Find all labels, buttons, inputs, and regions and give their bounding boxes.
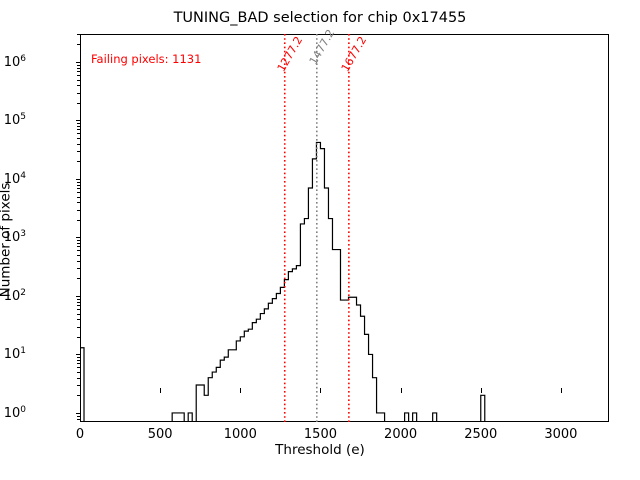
y-tick-minor [77,185,80,186]
y-tick-minor [77,210,80,211]
histogram-step [80,348,84,422]
x-tick-label: 2500 [464,427,497,442]
x-tick-major [561,388,562,393]
y-tick-minor [77,103,80,104]
y-tick-minor [77,68,80,69]
histogram-step [196,142,384,422]
y-tick-major [76,413,81,414]
y-tick-minor [77,357,80,358]
y-tick-minor [77,220,80,221]
y-tick-minor [77,182,80,183]
y-tick-minor [77,378,80,379]
y-tick-major [76,179,81,180]
y-tick-minor [77,327,80,328]
y-tick-minor [77,305,80,306]
y-tick-label: 104 [4,171,26,187]
x-tick-label: 500 [148,427,173,442]
y-tick-minor [77,144,80,145]
y-tick-minor [77,268,80,269]
x-tick-major [320,388,321,393]
y-tick-minor [77,129,80,130]
y-tick-minor [77,302,80,303]
x-tick-label: 2000 [384,427,417,442]
y-tick-minor [77,337,80,338]
failing-pixels-annotation: Failing pixels: 1131 [91,52,201,66]
x-tick-label: 1500 [304,427,337,442]
y-tick-minor [77,385,80,386]
histogram-step [413,413,417,422]
y-tick-minor [77,367,80,368]
histogram-step [188,413,192,422]
x-tick-label: 3000 [544,427,577,442]
x-tick-major [481,388,482,393]
x-tick-major [401,388,402,393]
y-tick-minor [77,360,80,361]
y-tick-minor [77,75,80,76]
y-tick-minor [77,278,80,279]
y-tick-label: 105 [4,112,26,128]
y-tick-major [76,354,81,355]
y-tick-label: 106 [4,54,26,70]
y-tick-minor [77,138,80,139]
y-tick-minor [77,309,80,310]
histogram-step [481,395,485,422]
y-tick-major [76,62,81,63]
plot-area: Failing pixels: 1131 1277.21477.21677.2 [80,34,609,422]
histogram-step [433,413,437,422]
y-tick-minor [77,34,80,35]
y-tick-minor [77,126,80,127]
y-tick-minor [77,71,80,72]
y-tick-minor [77,80,80,81]
y-tick-minor [77,151,80,152]
y-tick-minor [77,65,80,66]
y-tick-minor [77,133,80,134]
y-tick-minor [77,395,80,396]
x-axis-label: Threshold (e) [0,442,640,458]
y-tick-minor [77,243,80,244]
x-tick-label: 0 [76,427,84,442]
y-tick-minor [77,419,80,420]
y-tick-minor [77,93,80,94]
y-tick-minor [77,192,80,193]
y-tick-minor [77,197,80,198]
y-tick-major [76,296,81,297]
y-tick-minor [77,299,80,300]
y-tick-minor [77,319,80,320]
y-tick-label: 100 [4,405,26,421]
histogram-step [172,413,184,422]
y-tick-minor [77,188,80,189]
x-tick-major [240,388,241,393]
y-tick-minor [77,85,80,86]
y-tick-label: 102 [4,288,26,304]
y-tick-minor [77,363,80,364]
y-tick-minor [77,261,80,262]
y-tick-minor [77,240,80,241]
x-tick-label: 1000 [224,427,257,442]
y-tick-minor [77,123,80,124]
y-tick-minor [77,372,80,373]
y-tick-minor [77,416,80,417]
x-tick-major [160,388,161,393]
chart-title: TUNING_BAD selection for chip 0x17455 [0,10,640,26]
y-tick-label: 103 [4,229,26,245]
y-tick-minor [77,44,80,45]
histogram-svg [80,34,609,422]
y-tick-minor [77,314,80,315]
y-tick-minor [77,246,80,247]
x-tick-major [80,388,81,393]
y-tick-major [76,120,81,121]
y-tick-minor [77,255,80,256]
y-tick-label: 101 [4,346,26,362]
y-tick-minor [77,202,80,203]
chart-figure: TUNING_BAD selection for chip 0x17455 Fa… [0,0,640,480]
y-tick-major [76,237,81,238]
y-tick-minor [77,161,80,162]
y-tick-minor [77,250,80,251]
histogram-step [405,413,409,422]
